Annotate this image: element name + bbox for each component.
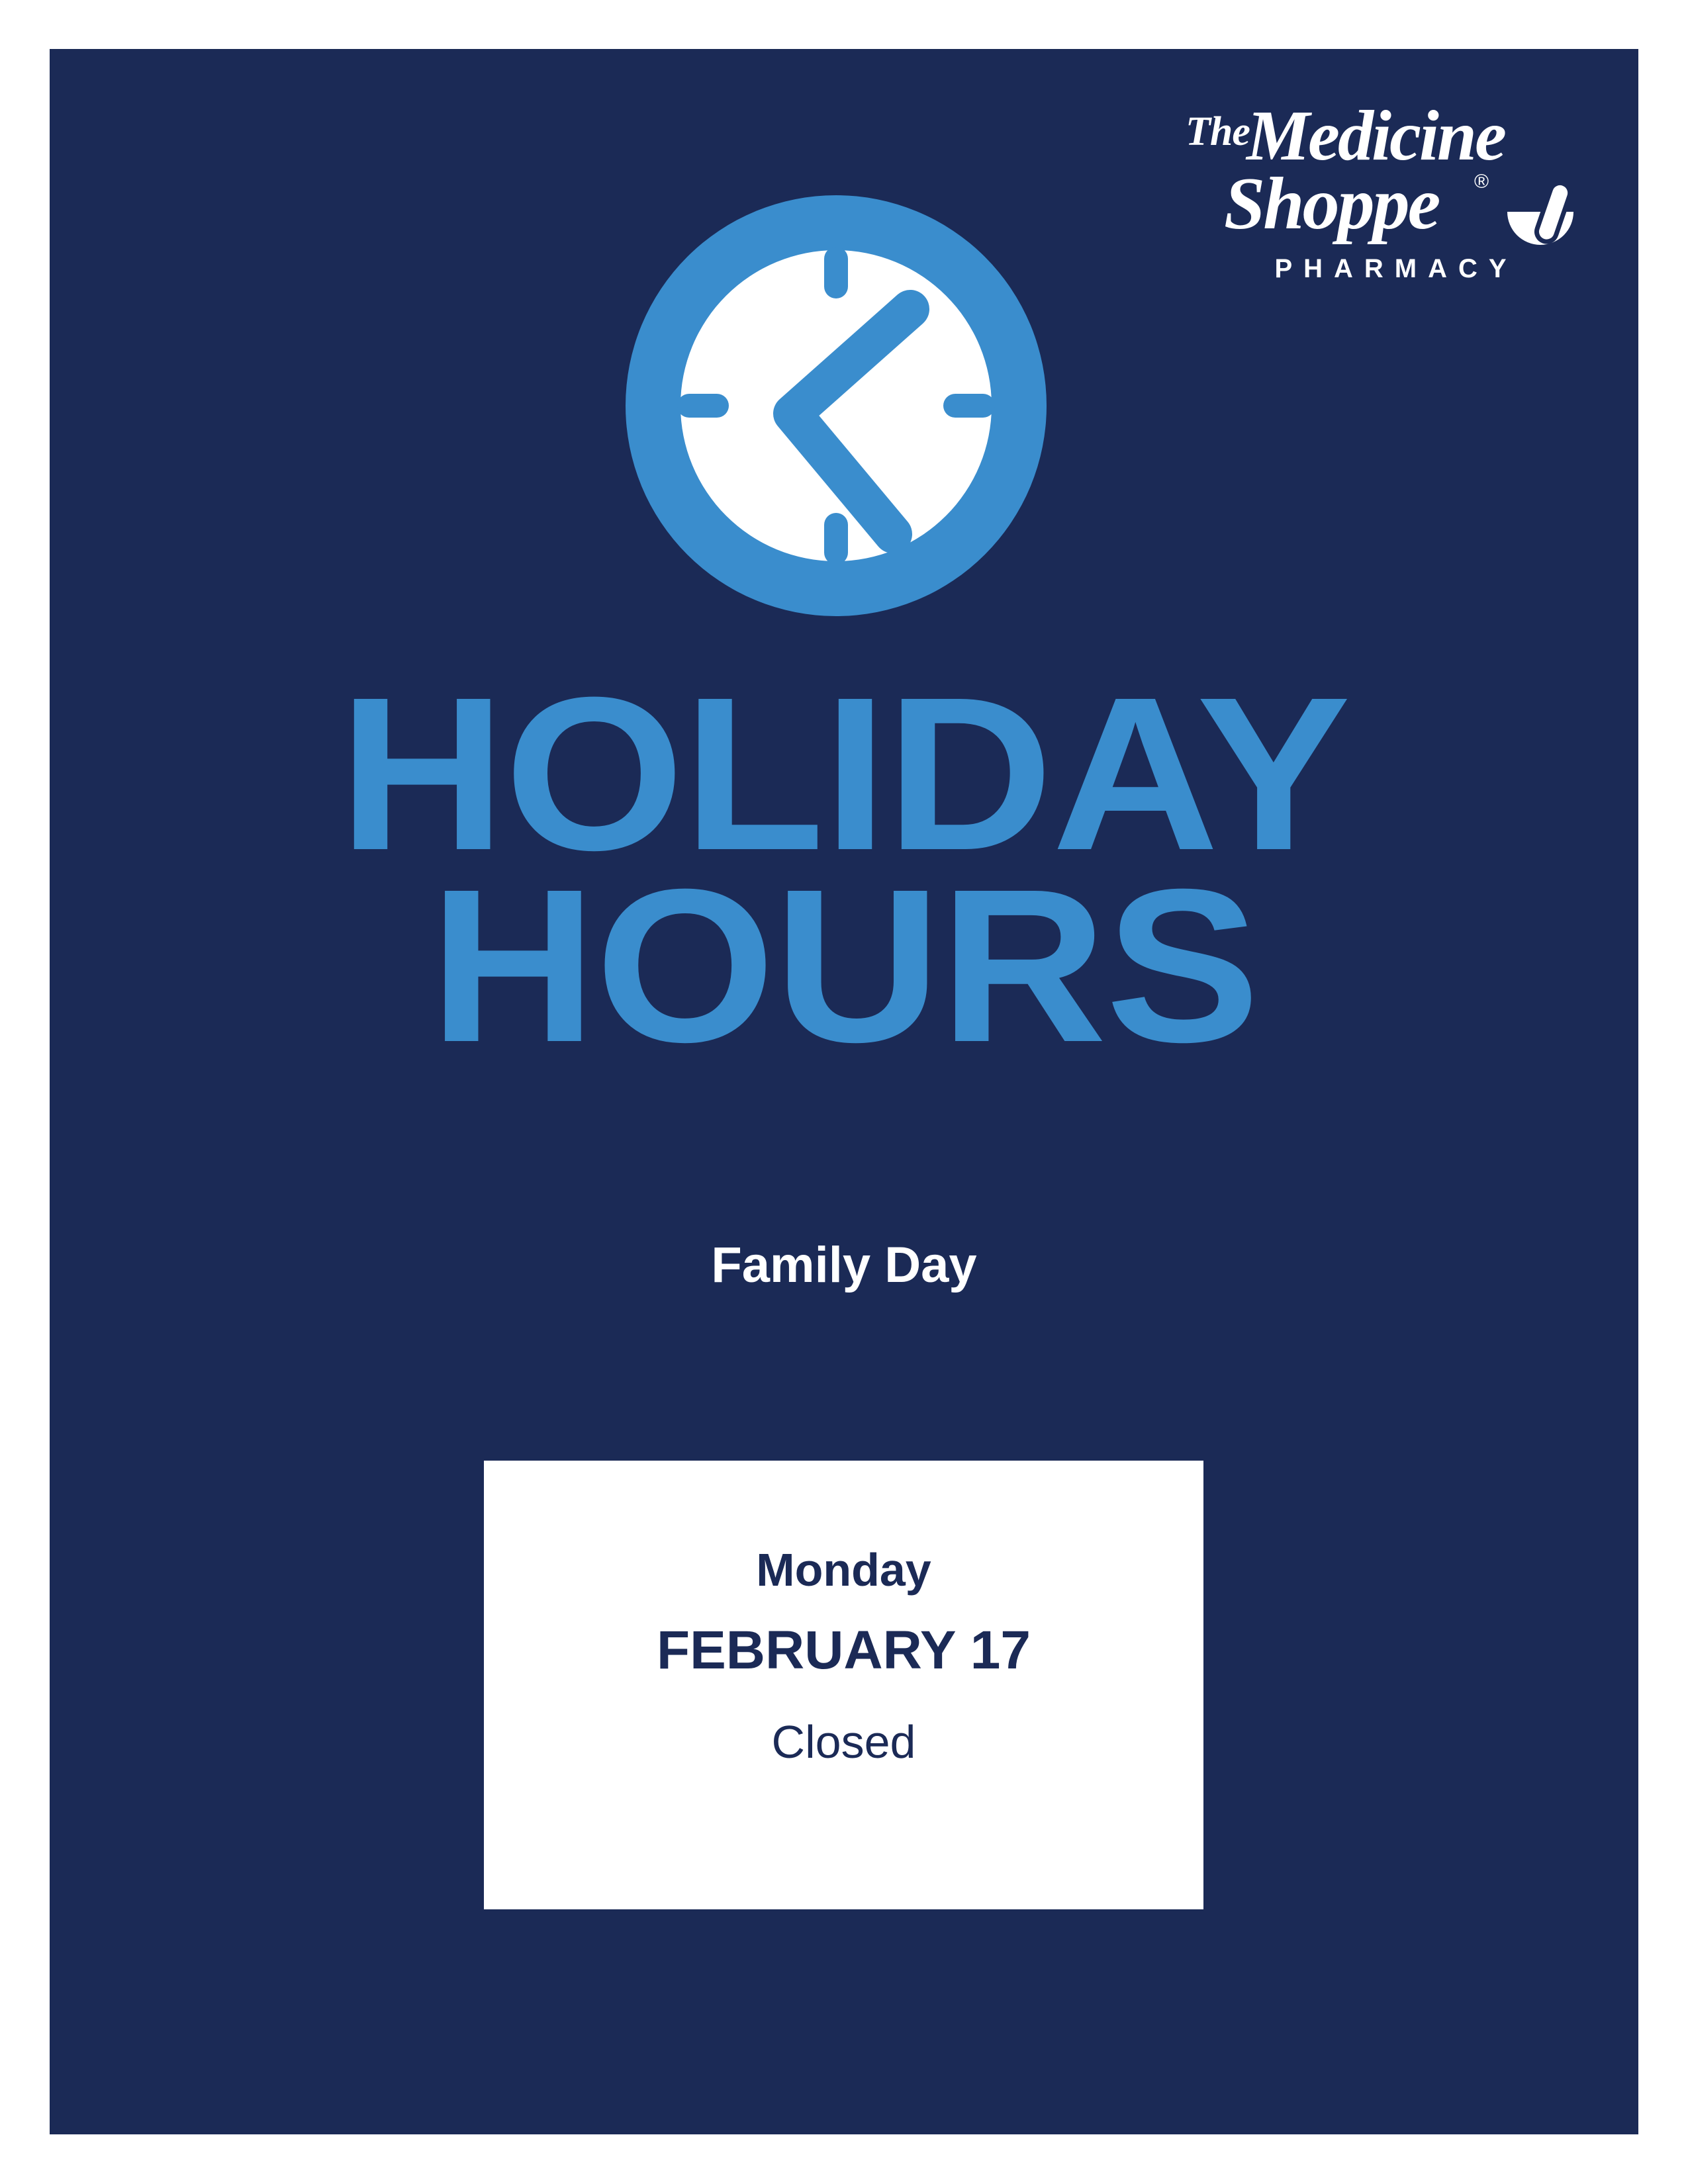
poster-panel: The Medicine Shoppe ® PHARMACY [50,49,1638,2134]
clock-tick-6 [824,513,848,565]
card-status: Closed [772,1719,916,1765]
brand-word-shoppe: Shoppe [1224,167,1438,241]
mortar-and-pestle-icon [1505,180,1576,254]
registered-trademark-icon: ® [1474,172,1489,192]
brand-logo-script: The Medicine Shoppe ® [1160,109,1584,261]
holiday-name-subtitle: Family Day [50,1240,1638,1291]
clock-icon [626,195,1047,616]
headline-line-holiday: HOLIDAY [50,678,1638,870]
card-date: FEBRUARY 17 [657,1623,1031,1678]
headline-line-hours: HOURS [50,870,1638,1062]
clock-tick-9 [677,394,729,418]
poster-page: The Medicine Shoppe ® PHARMACY [0,0,1688,2184]
headline-block: HOLIDAY HOURS [50,678,1638,1062]
brand-word-medicine: Medicine [1246,101,1505,172]
brand-word-pharmacy: PHARMACY [1264,255,1528,282]
card-weekday: Monday [756,1547,931,1593]
clock-tick-3 [943,394,995,418]
holiday-info-card: Monday FEBRUARY 17 Closed [484,1461,1203,1909]
brand-logo: The Medicine Shoppe ® PHARMACY [1160,109,1584,300]
clock-tick-12 [824,247,848,298]
brand-word-the: The [1186,111,1250,152]
